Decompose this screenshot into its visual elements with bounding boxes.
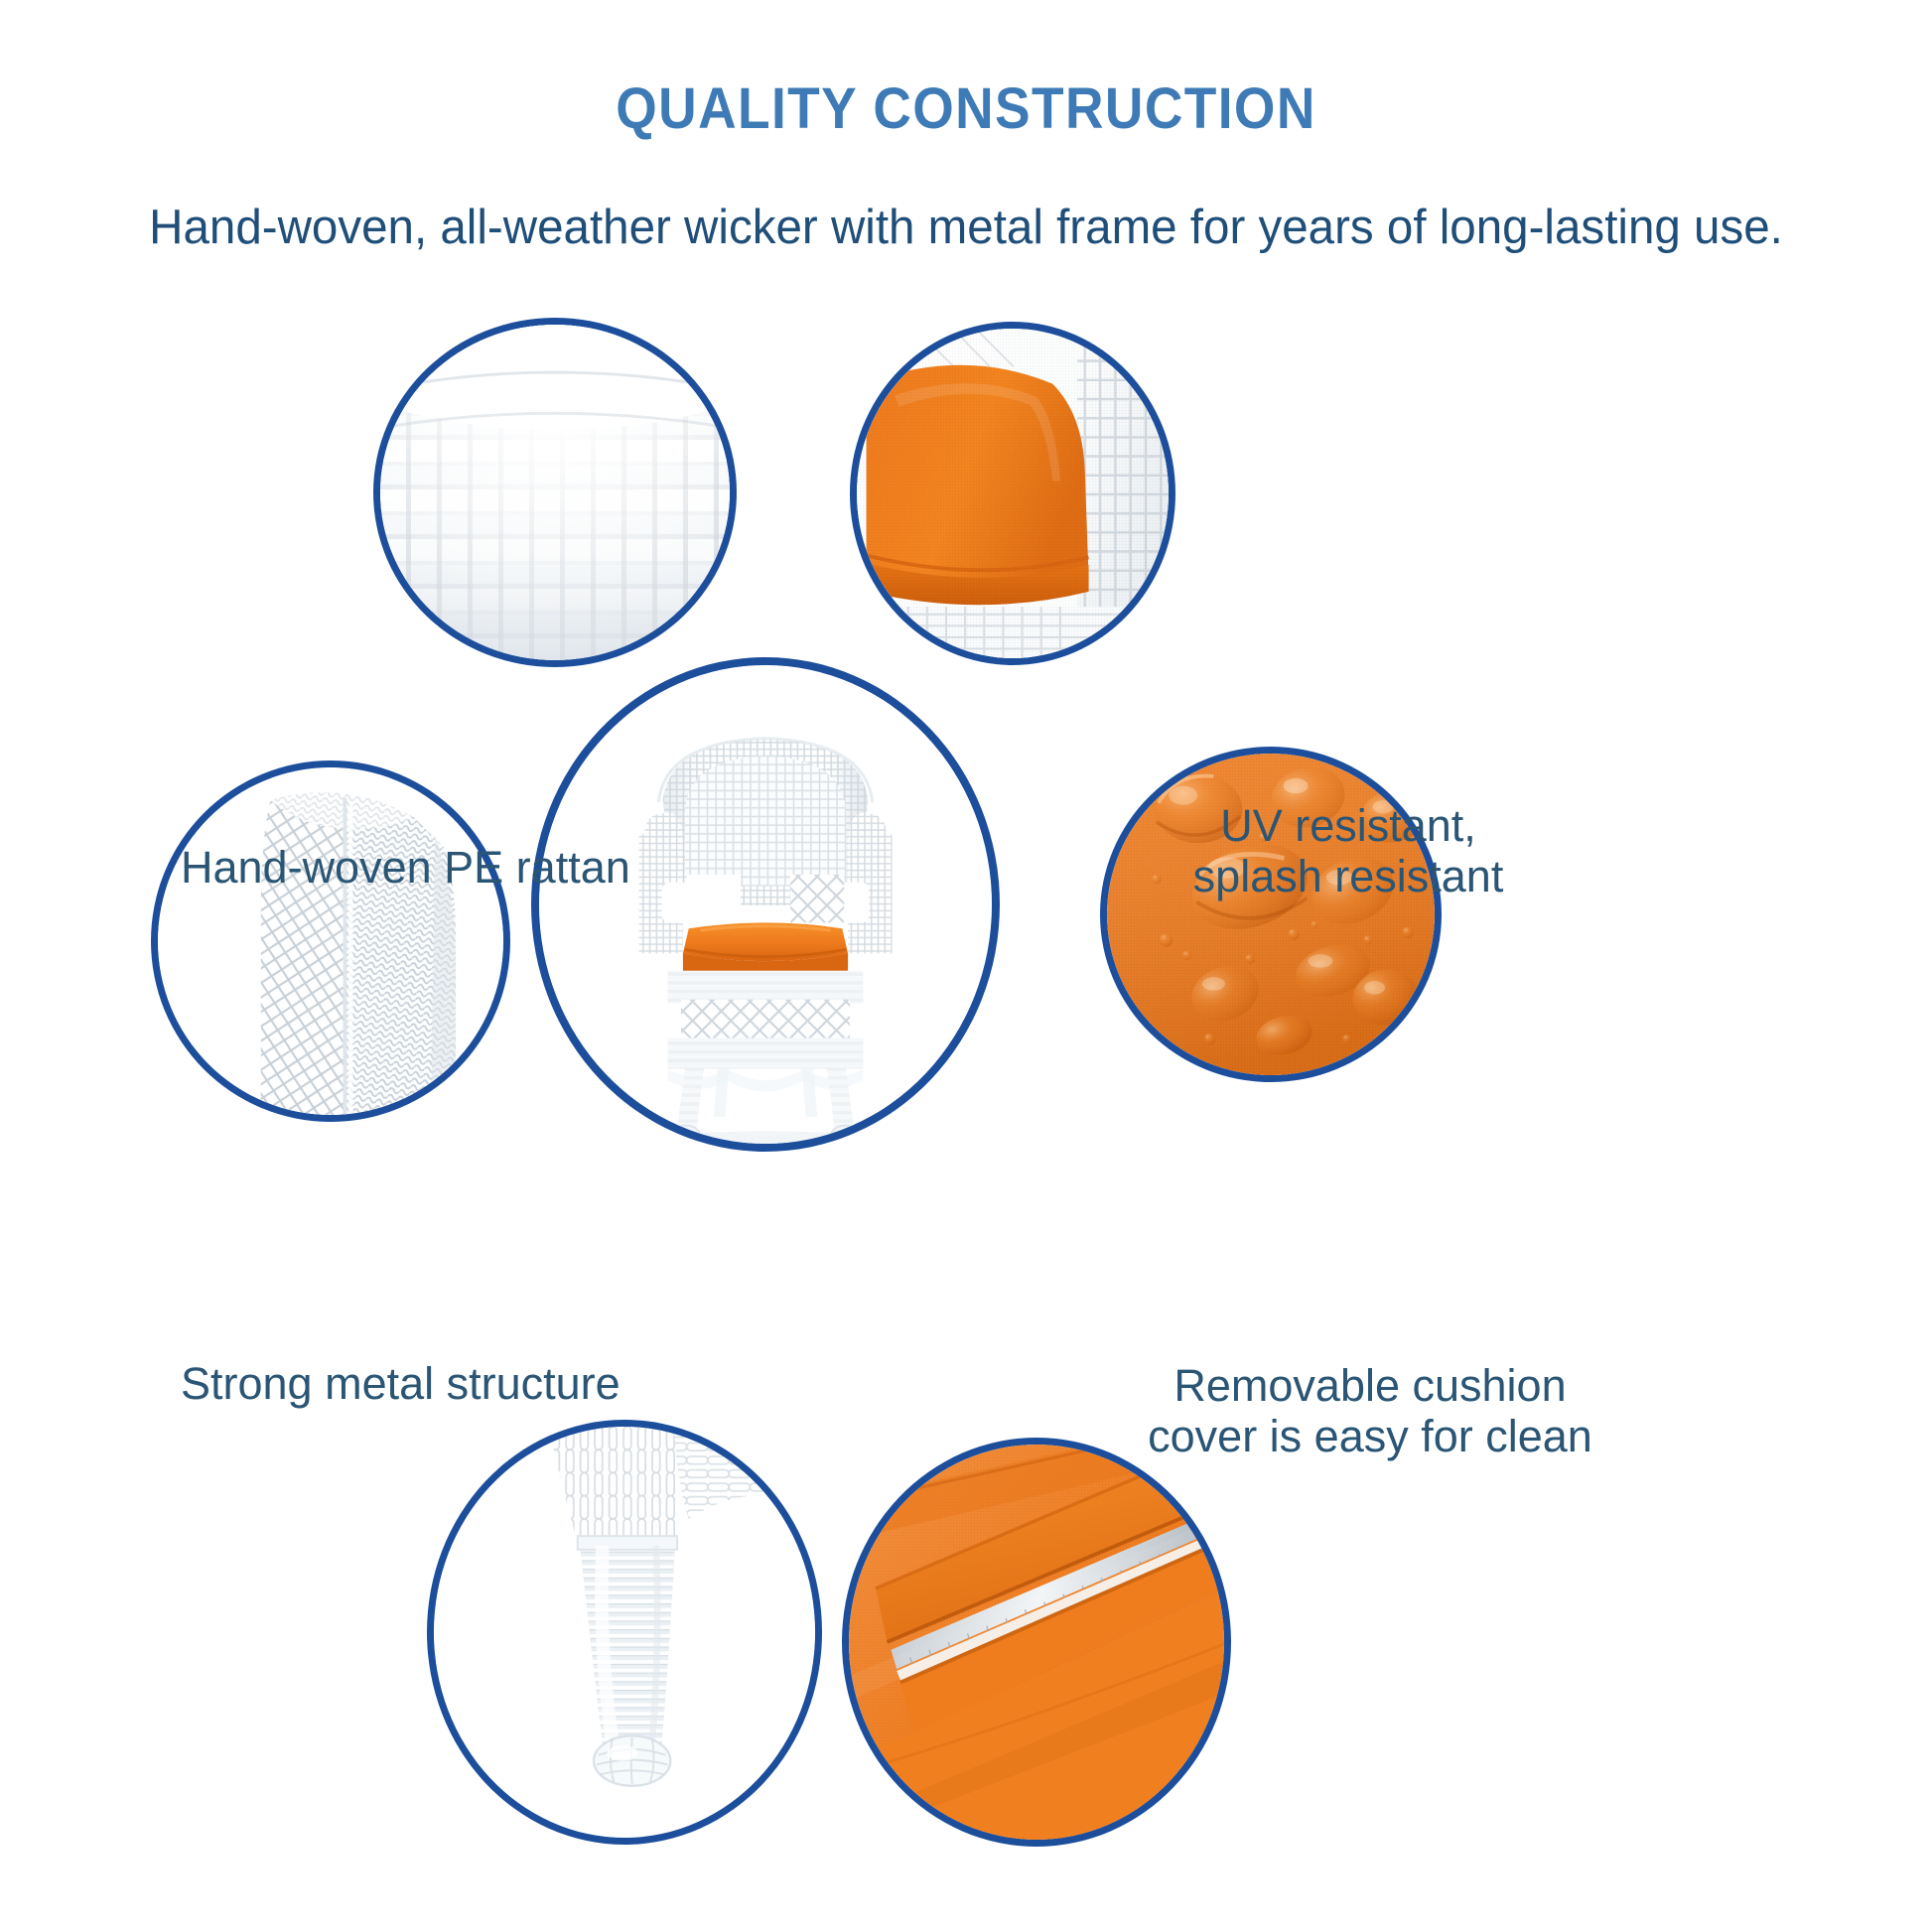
zipper-art — [849, 1445, 1224, 1840]
caption-strong-metal-structure: Strong metal structure — [181, 1358, 796, 1409]
chair-leg-art — [434, 1427, 815, 1838]
photo-full-chair — [539, 665, 992, 1144]
feature-bubble-uv-splash-resistant — [850, 322, 1175, 665]
feature-bubble-chair-leg — [427, 1420, 822, 1845]
caption-uv-splash-resistant: UV resistant, splash resistant — [1110, 800, 1587, 902]
fabric-micro-texture — [857, 329, 1169, 658]
feature-bubble-water-beading — [1100, 747, 1442, 1082]
feature-bubble-hand-woven-pe-rattan — [373, 318, 737, 667]
photo-chair-leg — [434, 1427, 815, 1838]
page-title: QUALITY CONSTRUCTION — [77, 75, 1855, 142]
photo-uv-splash-resistant — [857, 329, 1169, 658]
feature-bubble-strong-metal-structure — [151, 760, 510, 1122]
header: QUALITY CONSTRUCTION Hand-woven, all-wea… — [0, 0, 1932, 255]
caption-removable-cushion-cover: Removable cushion cover is easy for clea… — [1052, 1360, 1688, 1462]
photo-hand-woven-pe-rattan — [380, 325, 730, 660]
photo-strong-metal-structure — [158, 767, 503, 1115]
feature-bubble-full-chair — [531, 657, 1000, 1152]
wicker-armchair-art — [539, 665, 992, 1144]
photo-removable-cushion-cover — [849, 1445, 1224, 1840]
feature-bubble-removable-cushion-cover — [842, 1438, 1231, 1847]
rattan-shading-overlay — [380, 325, 730, 660]
chair-corner-art — [158, 767, 503, 1115]
page-subtitle: Hand-woven, all-weather wicker with meta… — [29, 200, 1903, 255]
caption-hand-woven-pe-rattan: Hand-woven PE rattan — [181, 842, 737, 893]
